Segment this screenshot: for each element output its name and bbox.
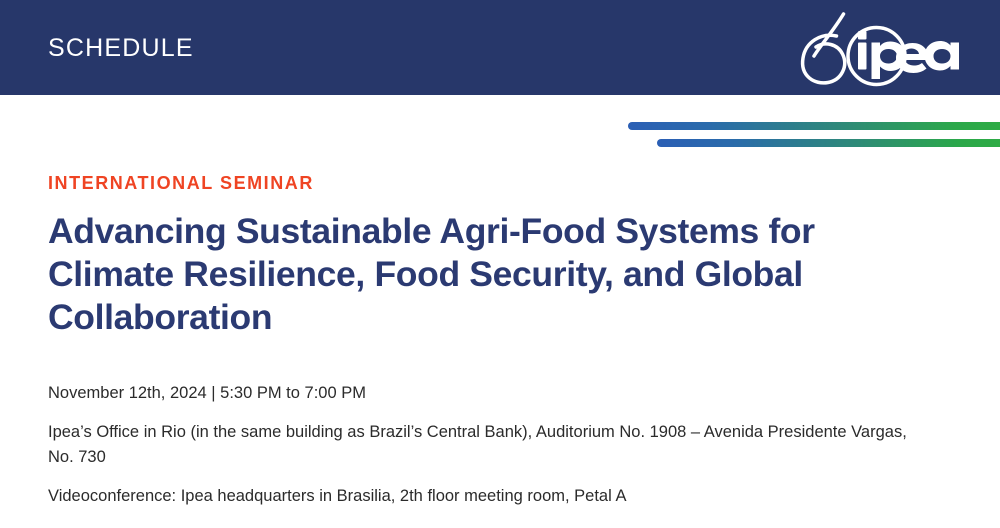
header-kicker-schedule: SCHEDULE [48, 33, 194, 63]
accent-rule-top [628, 122, 1000, 130]
main-content: INTERNATIONAL SEMINAR Advancing Sustaina… [48, 172, 953, 509]
ipea-60-anniversary-logo [795, 6, 970, 88]
event-datetime: November 12th, 2024 | 5:30 PM to 7:00 PM [48, 381, 928, 406]
header-band: SCHEDULE [0, 0, 1000, 95]
accent-rule-bottom [657, 139, 1000, 147]
event-venue-address: Ipea’s Office in Rio (in the same buildi… [48, 420, 928, 470]
page-title: Advancing Sustainable Agri-Food Systems … [48, 210, 948, 339]
event-details: November 12th, 2024 | 5:30 PM to 7:00 PM… [48, 381, 953, 509]
event-type-eyebrow: INTERNATIONAL SEMINAR [48, 172, 953, 194]
event-videoconference-location: Videoconference: Ipea headquarters in Br… [48, 484, 928, 509]
seminar-schedule-page: SCHEDULE [0, 0, 1000, 528]
